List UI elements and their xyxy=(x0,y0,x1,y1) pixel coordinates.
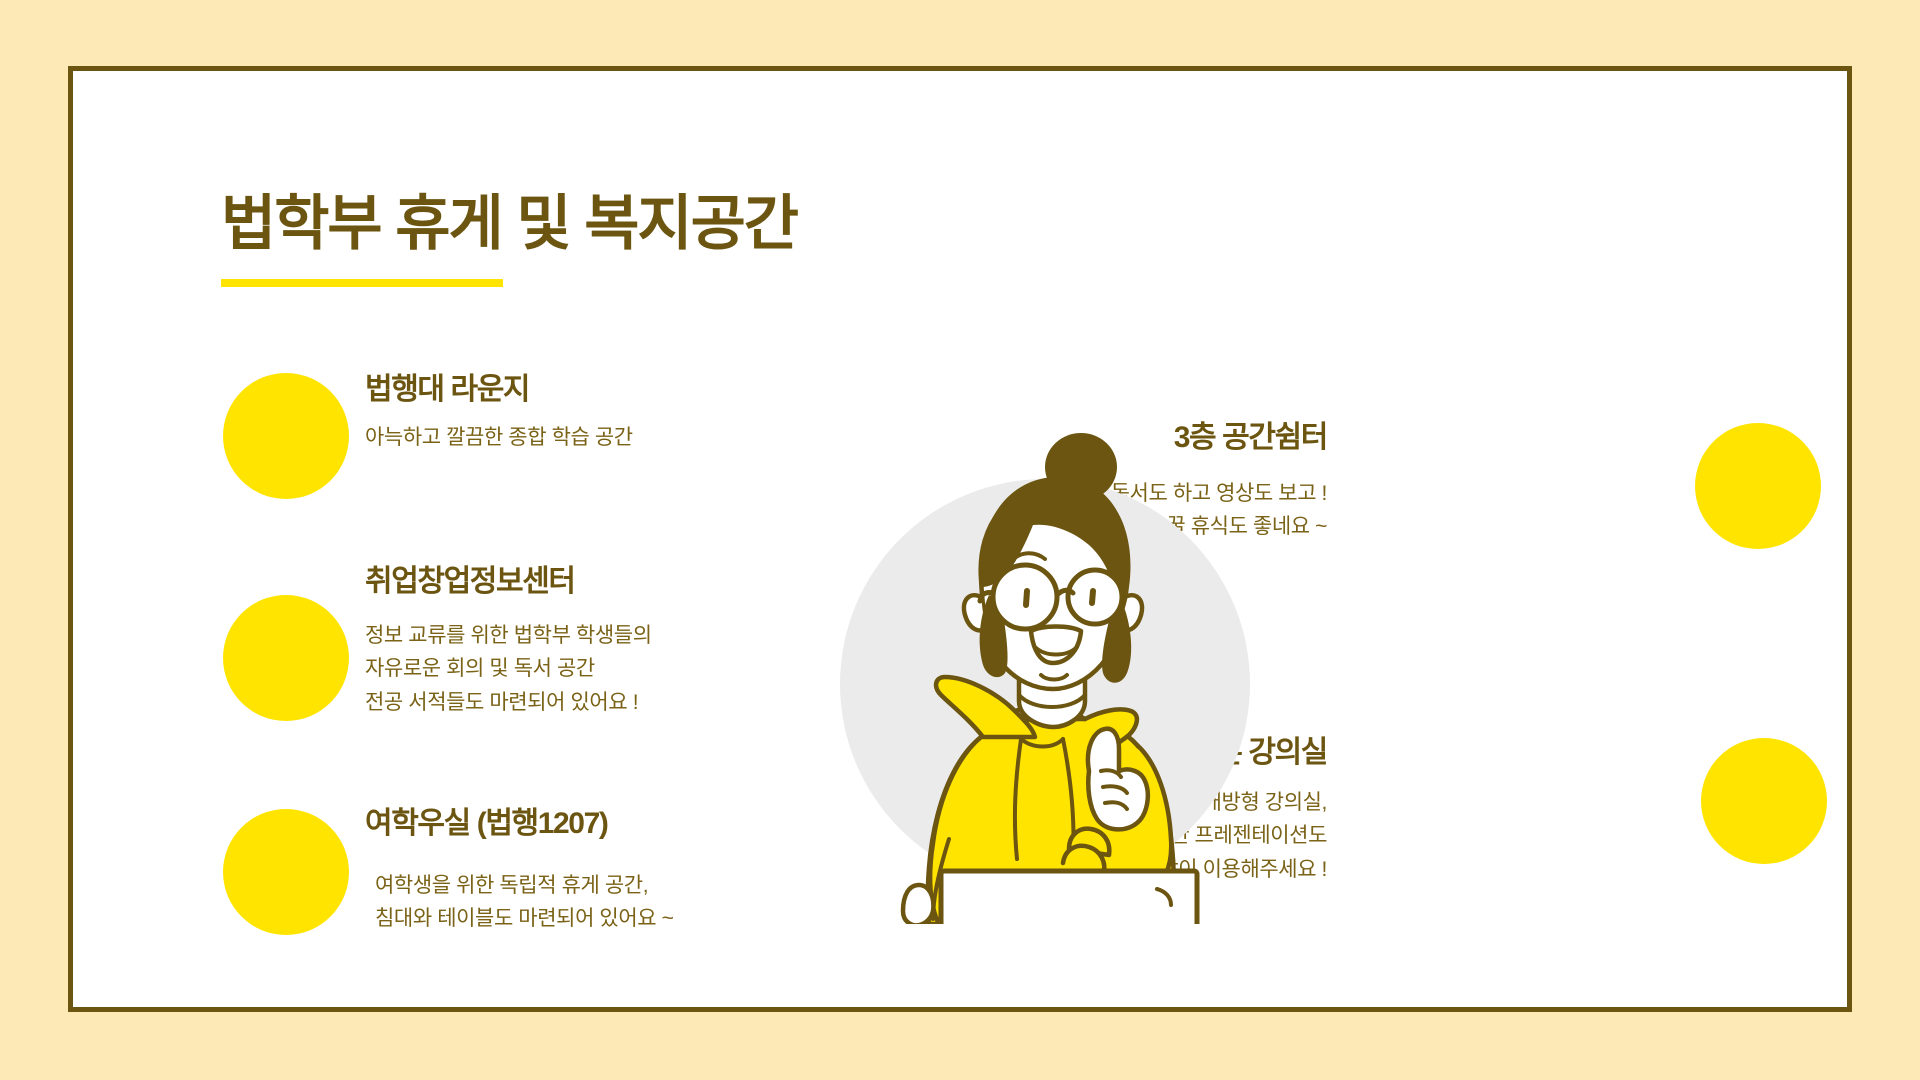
feature-desc-career-center: 정보 교류를 위한 법학부 학생들의 자유로운 회의 및 독서 공간 전공 서적… xyxy=(365,619,652,720)
feature-title-career-center: 취업창업정보센터 xyxy=(365,563,652,601)
feature-item-career-center: 취업창업정보센터 정보 교류를 위한 법학부 학생들의 자유로운 회의 및 독서… xyxy=(365,563,652,719)
feature-desc-lounge: 아늑하고 깔끔한 종합 학습 공간 xyxy=(365,421,633,455)
student-illustration xyxy=(733,419,1313,959)
feature-item-womens-room: 여학우실 (법행1207) 여학생을 위한 독립적 휴게 공간, 침대와 테이블… xyxy=(365,805,673,936)
feature-item-lounge: 법행대 라운지 아늑하고 깔끔한 종합 학습 공간 xyxy=(365,371,633,454)
feature-desc-womens-room: 여학생을 위한 독립적 휴게 공간, 침대와 테이블도 마련되어 있어요 ~ xyxy=(365,869,673,936)
bullet-circle-capstone xyxy=(1701,738,1827,864)
student-illustration-svg xyxy=(733,419,1313,959)
page-title: 법학부 휴게 및 복지공간 xyxy=(221,191,797,257)
hand-left xyxy=(903,885,933,925)
slide-card: 법학부 휴게 및 복지공간 법행대 라운지 아늑하고 깔끔한 종합 학습 공간 … xyxy=(68,66,1852,1012)
bullet-circle-lounge xyxy=(223,373,349,499)
title-block: 법학부 휴게 및 복지공간 xyxy=(221,191,797,287)
bullet-circle-rest-area xyxy=(1695,423,1821,549)
eye-right xyxy=(1092,591,1093,603)
title-underline-rule xyxy=(221,279,503,287)
feature-title-womens-room: 여학우실 (법행1207) xyxy=(365,805,673,843)
slide-root: 법학부 휴게 및 복지공간 법행대 라운지 아늑하고 깔끔한 종합 학습 공간 … xyxy=(0,0,1920,1080)
eye-left xyxy=(1026,591,1027,605)
laptop-screen xyxy=(941,871,1197,959)
bullet-circle-womens xyxy=(223,809,349,935)
bullet-circle-career xyxy=(223,595,349,721)
feature-title-lounge: 법행대 라운지 xyxy=(365,371,633,409)
